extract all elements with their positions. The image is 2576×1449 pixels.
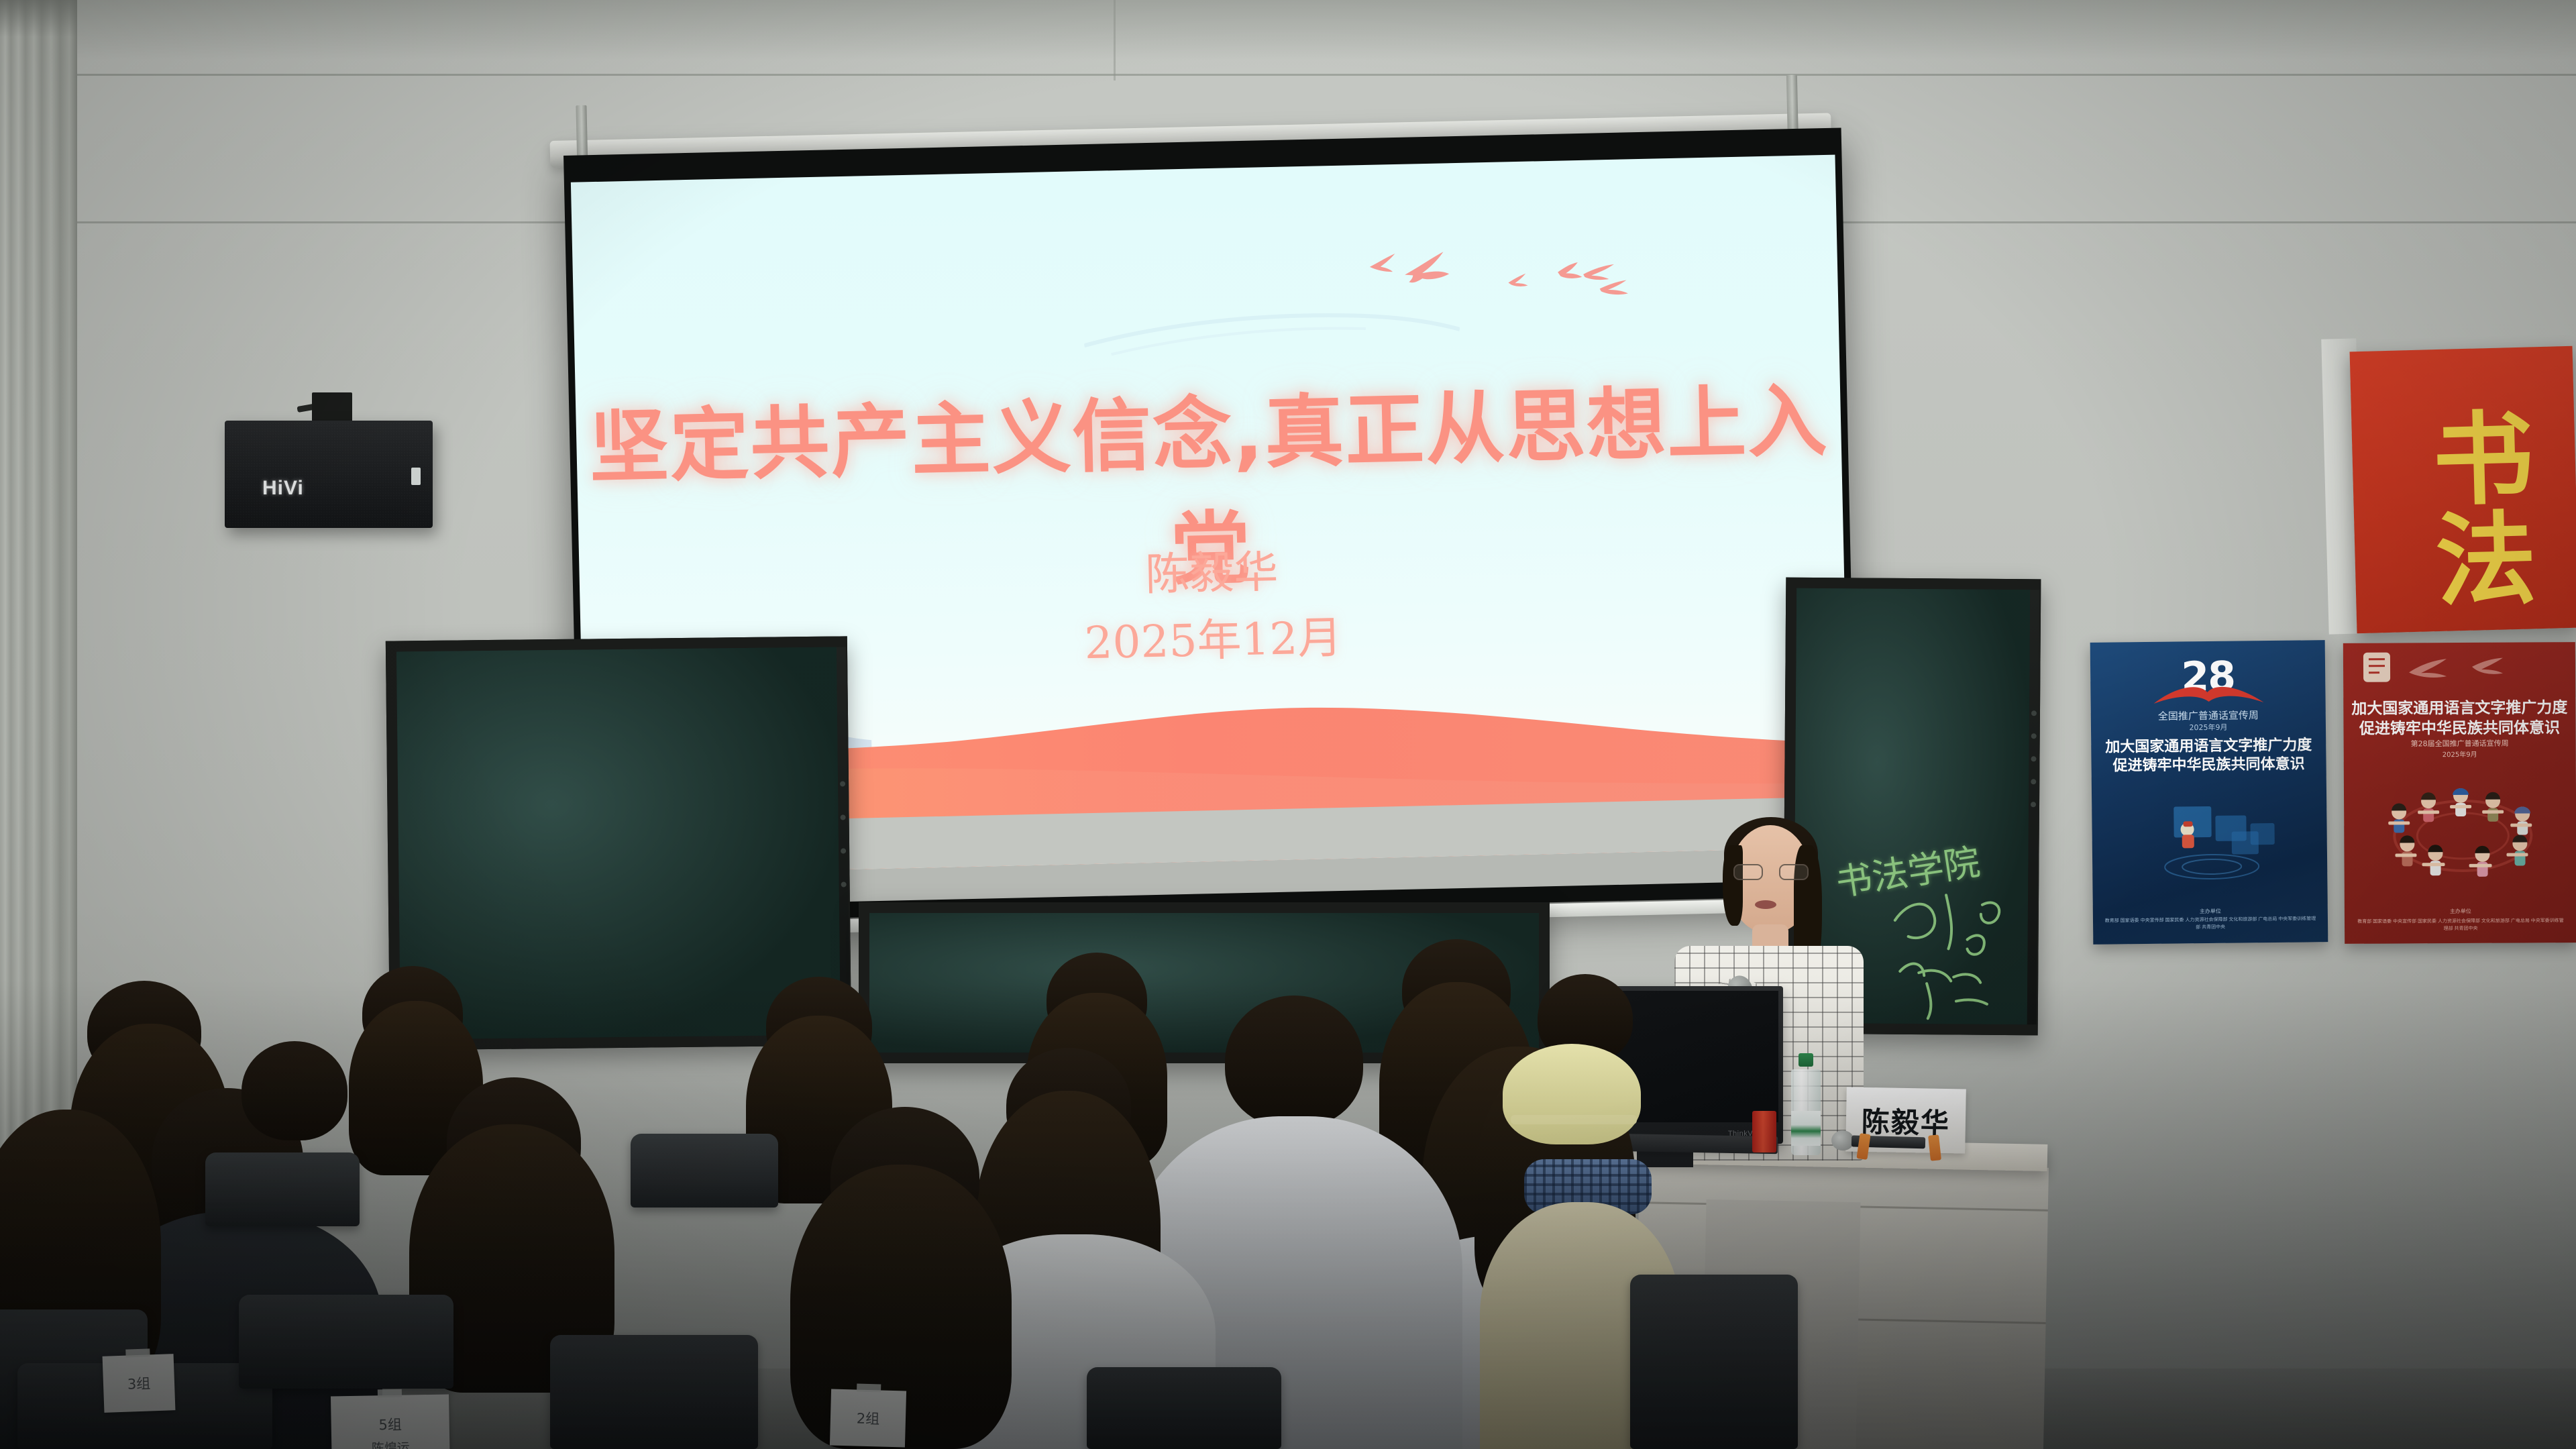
audience: 3组 5组 陈煌运 2组 bbox=[0, 966, 2576, 1449]
poster-blue-date: 2025年9月 bbox=[2091, 720, 2326, 734]
poster-putonghua-red: 加大国家通用语言文字推广力度 促进铸牢中华民族共同体意识 第28届全国推广普通话… bbox=[2343, 642, 2576, 944]
calligraphy-banner: 书法 bbox=[2350, 346, 2576, 634]
seat-sign: 3组 bbox=[103, 1354, 176, 1413]
chair-back bbox=[631, 1134, 778, 1207]
sign-tape bbox=[378, 1389, 402, 1398]
wall-seam-vertical bbox=[1114, 0, 1116, 80]
wall-seam-upper bbox=[0, 74, 2576, 76]
presenter-hair-left bbox=[1723, 845, 1743, 926]
wall-speaker: HiVi bbox=[225, 392, 433, 547]
speaker-grille-icon bbox=[227, 423, 431, 526]
audience-head bbox=[241, 1041, 347, 1140]
presenter-mouth bbox=[1755, 900, 1776, 909]
poster-red-seal-icon bbox=[2361, 650, 2393, 685]
mist-streak bbox=[1083, 297, 1460, 366]
chair-back bbox=[239, 1295, 453, 1389]
poster-blue-line2: 促进铸牢中华民族共同体意识 bbox=[2091, 751, 2326, 775]
ceiling-shadow bbox=[0, 0, 2576, 60]
sign-tape bbox=[125, 1348, 150, 1357]
speaker-body: HiVi bbox=[225, 421, 433, 528]
lecture-hall-scene: HiVi bbox=[0, 0, 2576, 1449]
poster-red-children-icon bbox=[2379, 773, 2547, 888]
poster-red-birds-icon bbox=[2402, 654, 2536, 690]
poster-blue-screens-icon bbox=[2132, 796, 2294, 885]
chair-back bbox=[1087, 1367, 1281, 1449]
seat-sign: 2组 bbox=[830, 1389, 906, 1448]
speaker-led-indicator bbox=[411, 468, 421, 485]
audience-head bbox=[1225, 996, 1363, 1127]
poster-red-footer-label: 主办单位 bbox=[2345, 907, 2576, 916]
poster-red-date: 2025年9月 bbox=[2344, 748, 2576, 759]
seat-sign: 5组 陈煌运 bbox=[331, 1394, 450, 1449]
chair-back bbox=[1630, 1275, 1798, 1449]
baseball-cap bbox=[1503, 1044, 1641, 1144]
speaker-brand-label: HiVi bbox=[262, 477, 304, 500]
banner-text: 书法 bbox=[2432, 408, 2576, 612]
poster-blue-book-icon bbox=[2149, 682, 2267, 708]
glasses-icon bbox=[1733, 864, 1809, 880]
poster-red-footer: 教育部 国家语委 中央宣传部 国家民委 人力资源社会保障部 文化和旅游部 广电总… bbox=[2355, 917, 2566, 933]
poster-red-line2: 促进铸牢中华民族共同体意识 bbox=[2343, 714, 2575, 739]
sign-tape bbox=[857, 1384, 881, 1393]
curtain-top-shadow bbox=[0, 0, 77, 37]
seat-sign-group: 2组 bbox=[856, 1408, 879, 1429]
poster-blue-footer: 教育部 国家语委 中央宣传部 国家民委 人力资源社会保障部 文化和旅游部 广电总… bbox=[2104, 915, 2317, 932]
cap-strap bbox=[1511, 1115, 1637, 1124]
seat-sign-group: 3组 bbox=[127, 1373, 150, 1393]
poster-red-subtitle: 第28届全国推广普通话宣传周 bbox=[2344, 737, 2576, 749]
chair-back bbox=[205, 1152, 360, 1226]
poster-putonghua-blue: 28 全国推广普通话宣传周 2025年9月 加大国家通用语言文字推广力度 促进铸… bbox=[2090, 640, 2328, 945]
seat-sign-group: 5组 bbox=[378, 1413, 402, 1434]
seat-sign-name: 陈煌运 bbox=[372, 1438, 410, 1449]
chair-back bbox=[550, 1335, 758, 1449]
